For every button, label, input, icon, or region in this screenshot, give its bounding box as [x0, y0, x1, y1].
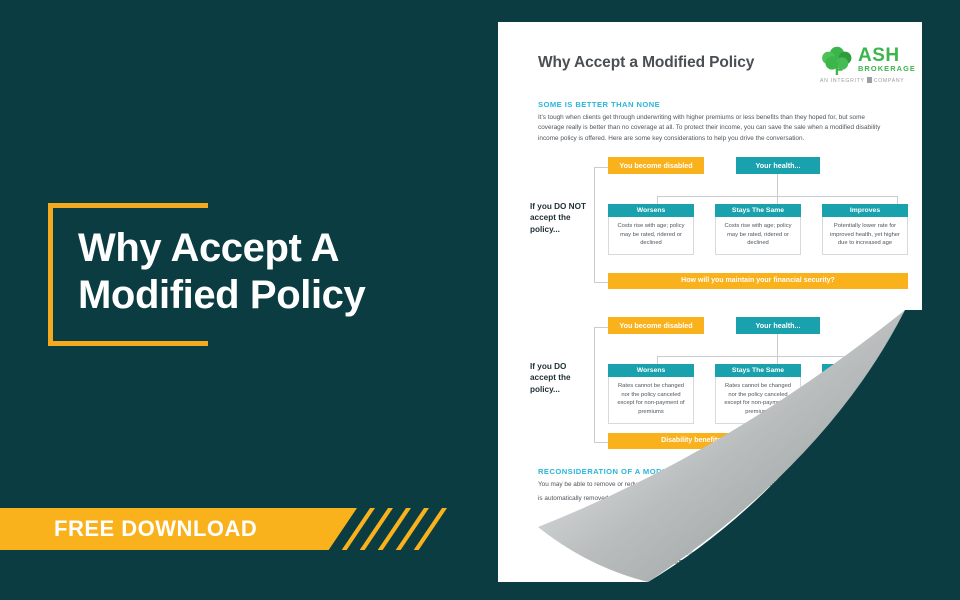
chip-you-become-disabled: You become disabled: [608, 317, 704, 334]
reconsideration-section: RECONSIDERATION OF A MODIFIED POLICY You…: [538, 467, 898, 505]
tree-icon: [820, 46, 854, 78]
flow-card-head: Worsens: [608, 204, 694, 217]
flow-card-head: Stays The Same: [715, 364, 801, 377]
promo-title-line2: Modified Policy: [78, 272, 408, 319]
flow-card-head: Stays The Same: [715, 204, 801, 217]
chip-you-become-disabled: You become disabled: [608, 157, 704, 174]
free-download-banner[interactable]: FREE DOWNLOAD: [0, 508, 440, 550]
promo-title-line1: Why Accept A: [78, 226, 339, 270]
intro-section: SOME IS BETTER THAN NONE It's tough when…: [538, 100, 890, 144]
footer-code: 50023: [721, 560, 735, 566]
reconsideration-emphasis: this Does n: [768, 481, 802, 488]
flow-card: Stays The Same Costs rise with age; poli…: [715, 204, 801, 255]
reconsideration-line1a: You may be able to remove or reduce the …: [538, 481, 768, 488]
ash-brokerage-logo: ASH BROKERAGE AN INTEGRITYCOMPANY: [818, 44, 910, 90]
flow-card: Worsens Costs rise with age; policy may …: [608, 204, 694, 255]
flow-connector-bracket: [594, 167, 608, 283]
flow-card: Stays The Same Rates cannot be changed n…: [715, 364, 801, 424]
flow-card-body: Rates cannot be changed nor the policy c…: [715, 377, 801, 424]
footer-website: ASHBROKERAGE.COM: [652, 560, 711, 566]
flow-card-body: Costs rise with age; policy may be rated…: [715, 217, 801, 255]
footer-revision: Rev. 11/24: [744, 560, 767, 566]
flow-card-body: You have a chance to review rates and ex…: [822, 377, 908, 415]
document-title: Why Accept a Modified Policy: [538, 54, 754, 72]
flow-card-body: Rates cannot be changed nor the policy c…: [608, 377, 694, 424]
bracket-arm-top: [160, 203, 208, 208]
reconsideration-body: You may be able to remove or reduce the …: [538, 480, 898, 490]
chip-your-health: Your health...: [736, 317, 820, 334]
flow-card-head: Improves: [822, 364, 908, 377]
footer-disclaimer: For illustrative purposes only. Not to b…: [498, 550, 922, 559]
flow-bottom-bar: Disability benefits will help protect yo…: [608, 433, 908, 449]
promo-graphic: Why Accept A Modified Policy FREE DOWNLO…: [0, 0, 960, 600]
reconsideration-line2: is automatically removed at the end of t…: [538, 494, 898, 504]
flow-card: Worsens Rates cannot be changed nor the …: [608, 364, 694, 424]
flow-side-label: If you DO accept the policy...: [530, 361, 586, 395]
flow-connector-bracket: [594, 327, 608, 443]
flow-card: Improves You have a chance to review rat…: [822, 364, 908, 415]
logo-subtitle: BROKERAGE: [858, 65, 916, 72]
flow-card-body: Costs rise with age; policy may be rated…: [608, 217, 694, 255]
logo-wordmark: ASH: [858, 46, 900, 65]
logo-tagline: AN INTEGRITYCOMPANY: [820, 77, 904, 84]
flow-card-head: Improves: [822, 204, 908, 217]
flow-card: Improves Potentially lower rate for impr…: [822, 204, 908, 255]
promo-title: Why Accept A Modified Policy: [78, 225, 408, 319]
footer-meta: ASHBROKERAGE.COM|50023|Rev. 11/24: [498, 559, 922, 568]
flow-bottom-bar: How will you maintain your financial sec…: [608, 273, 908, 289]
chip-your-health: Your health...: [736, 157, 820, 174]
document-preview[interactable]: Why Accept a Modified Policy ASH BROKERA…: [498, 22, 922, 582]
bracket-arm-bottom: [160, 341, 208, 346]
intro-body: It's tough when clients get through unde…: [538, 113, 890, 144]
flow-card-head: Worsens: [608, 364, 694, 377]
flow-connectors: [608, 174, 908, 204]
flow-card-body: Potentially lower rate for improved heal…: [822, 217, 908, 255]
document-footer: For illustrative purposes only. Not to b…: [498, 550, 922, 567]
flow-connectors: [608, 334, 908, 364]
reconsideration-heading: RECONSIDERATION OF A MODIFIED POLICY: [538, 467, 898, 476]
free-download-label: FREE DOWNLOAD: [54, 508, 257, 550]
decorative-stripes: [340, 508, 450, 550]
flow-side-label: If you DO NOT accept the policy...: [530, 201, 586, 235]
intro-heading: SOME IS BETTER THAN NONE: [538, 100, 890, 109]
